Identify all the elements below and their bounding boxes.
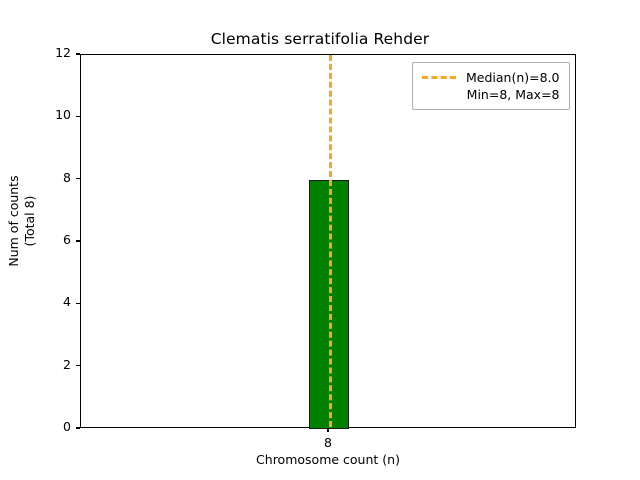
- legend-label-minmax: Min=8, Max=8: [467, 87, 560, 102]
- y-axis-ticks: Num of counts (Total 8) 024681012: [0, 54, 80, 428]
- y-tick-label: 6: [63, 232, 71, 247]
- legend-label-median: Median(n)=8.0: [466, 70, 560, 85]
- x-tick-mark: [327, 428, 328, 432]
- x-tick-label: 8: [288, 435, 368, 450]
- y-tick-label: 8: [63, 170, 71, 185]
- y-tick-mark: [76, 116, 80, 117]
- y-tick-label: 4: [63, 294, 71, 309]
- legend-item-median: Median(n)=8.0: [422, 69, 560, 86]
- x-axis-label: Chromosome count (n): [80, 452, 576, 467]
- y-tick-label: 10: [55, 107, 71, 122]
- y-tick-label: 0: [63, 419, 71, 434]
- y-tick-mark: [76, 303, 80, 304]
- chart-legend: Median(n)=8.0 Min=8, Max=8: [412, 62, 570, 110]
- plot-area: [80, 54, 576, 428]
- chart-figure: Clematis serratifolia Rehder Num of coun…: [0, 0, 640, 480]
- y-tick-mark: [76, 178, 80, 179]
- y-tick-mark: [76, 365, 80, 366]
- y-tick-mark: [76, 53, 80, 54]
- legend-item-minmax: Min=8, Max=8: [422, 86, 560, 103]
- chart-title: Clematis serratifolia Rehder: [0, 30, 640, 48]
- y-tick-label: 2: [63, 357, 71, 372]
- dashed-line-icon: [422, 76, 456, 79]
- y-tick-mark: [76, 240, 80, 241]
- y-axis-label: Num of counts (Total 8): [6, 71, 38, 371]
- y-tick-label: 12: [55, 45, 71, 60]
- median-line: [329, 55, 332, 427]
